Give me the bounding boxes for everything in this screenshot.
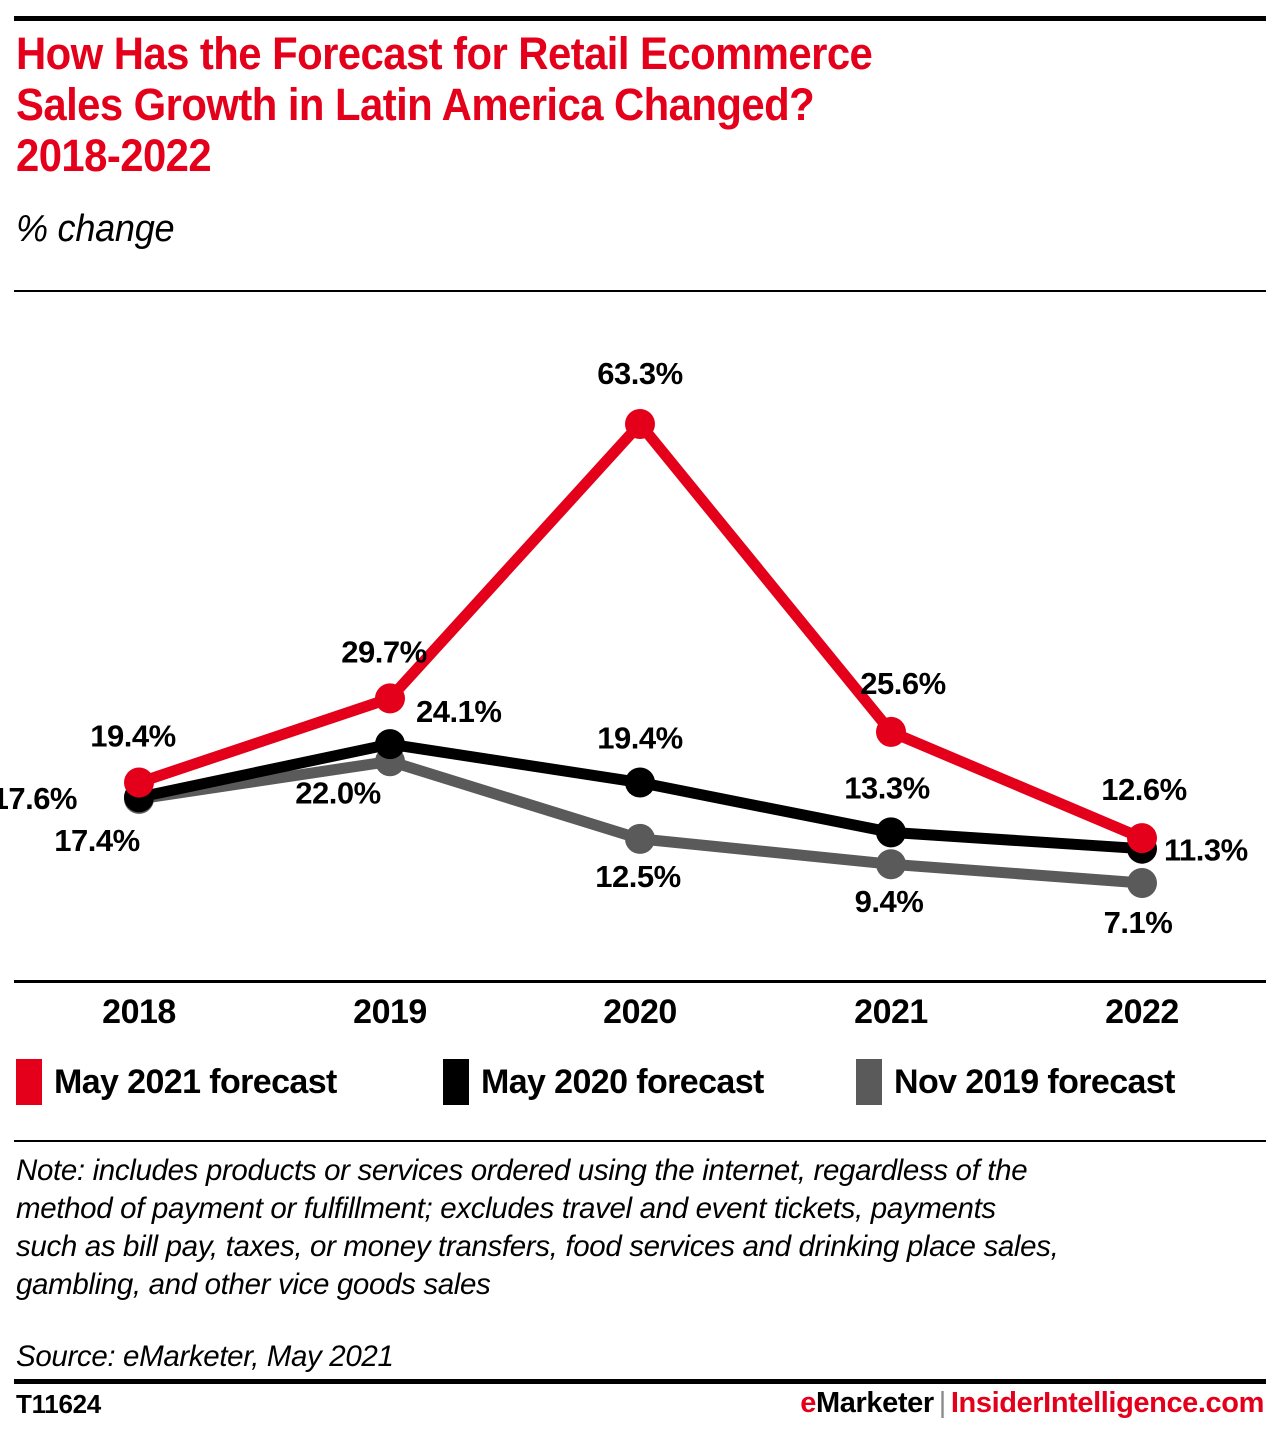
brand-marketer: Marketer	[816, 1387, 934, 1419]
data-point	[1127, 823, 1157, 853]
header-divider	[14, 290, 1266, 292]
legend-item[interactable]: May 2021 forecast	[16, 1058, 337, 1106]
legend-item[interactable]: May 2020 forecast	[443, 1058, 764, 1106]
data-point	[625, 768, 655, 798]
legend-swatch-icon	[443, 1059, 469, 1105]
legend-label: May 2020 forecast	[481, 1063, 764, 1102]
data-point	[124, 768, 154, 798]
data-point	[876, 717, 906, 747]
legend-label: Nov 2019 forecast	[894, 1063, 1175, 1102]
data-label: 29.7%	[341, 634, 426, 669]
top-divider	[14, 16, 1266, 21]
data-label: 63.3%	[597, 356, 682, 391]
chart-points-group	[124, 409, 1157, 898]
brand-e: e	[800, 1387, 816, 1419]
data-label: 11.3%	[1164, 833, 1248, 868]
data-label: 19.4%	[597, 721, 682, 756]
brand-site[interactable]: InsiderIntelligence.com	[951, 1387, 1264, 1419]
chart-series-group	[139, 424, 1142, 883]
page-title: How Has the Forecast for Retail Ecommerc…	[16, 28, 1113, 181]
data-point	[625, 409, 655, 439]
legend-label: May 2021 forecast	[54, 1063, 337, 1102]
data-label: 9.4%	[855, 884, 924, 919]
footer-divider	[14, 1379, 1266, 1384]
x-axis-tick-2019: 2019	[290, 993, 490, 1032]
x-axis-tick-2021: 2021	[791, 993, 991, 1032]
data-label: 17.4%	[54, 823, 139, 858]
data-label: 17.6%	[0, 781, 77, 816]
data-label: 24.1%	[416, 694, 501, 729]
brand-lockup: eMarketer|InsiderIntelligence.com	[800, 1387, 1264, 1420]
legend-swatch-icon	[856, 1059, 882, 1105]
data-label: 12.6%	[1101, 772, 1186, 807]
data-label: 13.3%	[844, 770, 929, 805]
data-label: 25.6%	[860, 666, 945, 701]
note-text: Note: includes products or services orde…	[16, 1152, 1261, 1304]
chart-page: How Has the Forecast for Retail Ecommerc…	[0, 0, 1280, 1424]
legend-divider	[14, 1140, 1266, 1142]
line-chart: 19.4%29.7%63.3%25.6%12.6%17.6%24.1%19.4%…	[0, 300, 1280, 990]
x-axis-tick-2020: 2020	[540, 993, 740, 1032]
data-label: 7.1%	[1104, 905, 1173, 940]
source-text: Source: eMarketer, May 2021	[16, 1340, 394, 1374]
chart-id: T11624	[16, 1389, 101, 1420]
x-axis-labels: 20182019202020212022	[0, 993, 1280, 1039]
data-point	[876, 849, 906, 879]
x-axis-line	[14, 980, 1266, 983]
data-label: 22.0%	[295, 775, 380, 810]
page-subtitle: % change	[16, 208, 174, 251]
data-point	[876, 817, 906, 847]
data-point	[375, 729, 405, 759]
legend-swatch-icon	[16, 1059, 42, 1105]
x-axis-tick-2018: 2018	[39, 993, 239, 1032]
data-label: 12.5%	[595, 859, 680, 894]
brand-separator: |	[934, 1387, 951, 1419]
data-point	[375, 683, 405, 713]
chart-legend: May 2021 forecastMay 2020 forecastNov 20…	[0, 1058, 1280, 1118]
data-label: 19.4%	[90, 719, 175, 754]
data-point	[1127, 868, 1157, 898]
data-point	[625, 824, 655, 854]
footer-bar: T11624 eMarketer|InsiderIntelligence.com	[0, 1389, 1280, 1429]
x-axis-tick-2022: 2022	[1042, 993, 1242, 1032]
legend-item[interactable]: Nov 2019 forecast	[856, 1058, 1175, 1106]
